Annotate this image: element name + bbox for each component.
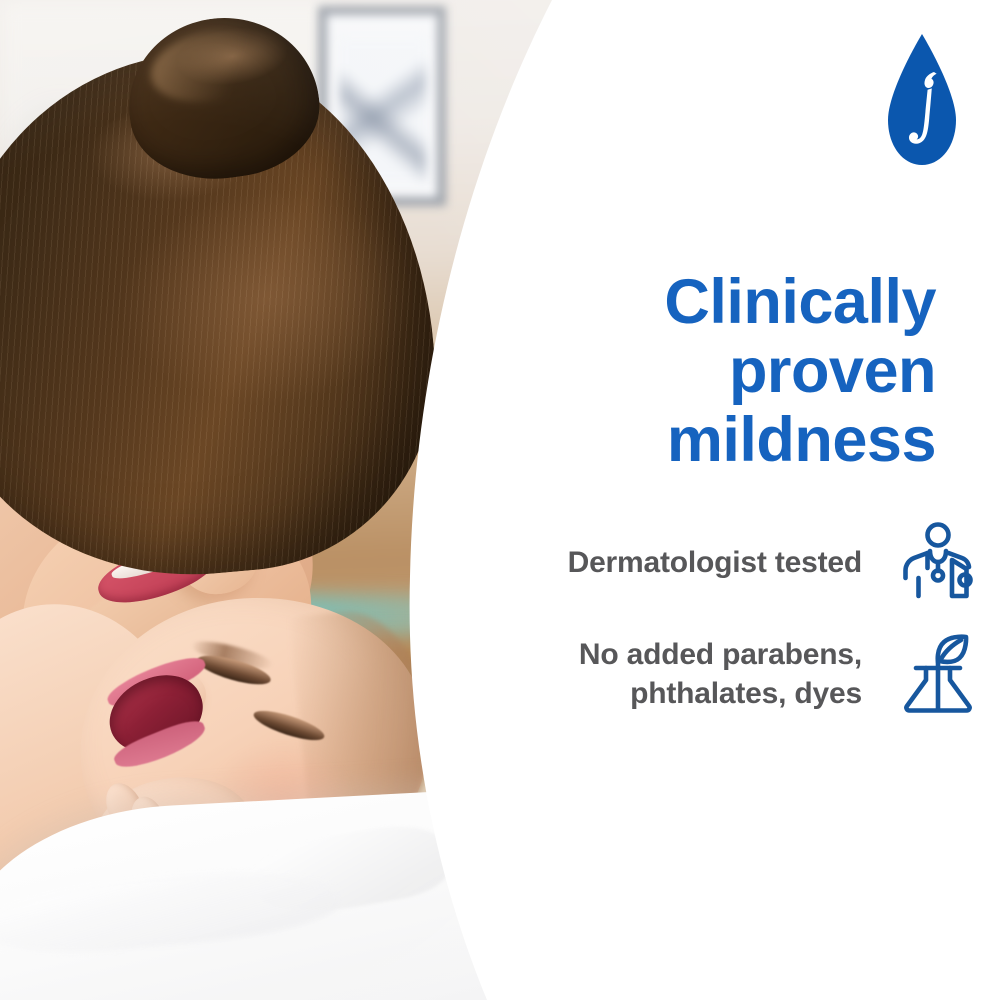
claim-text: No added parabens, phthalates, dyes <box>579 635 862 713</box>
claim-2-line-1: No added parabens, <box>579 635 862 674</box>
headline-line-3: mildness <box>520 406 936 475</box>
claim-text: Dermatologist tested <box>568 543 862 582</box>
flask-leaf-icon <box>896 632 980 716</box>
claim-no-added-ingredients: No added parabens, phthalates, dyes <box>420 632 980 716</box>
claims-list: Dermatologist tested <box>420 520 980 716</box>
headline-line-2: proven <box>520 337 936 406</box>
doctor-stethoscope-icon <box>896 520 980 604</box>
claim-dermatologist-tested: Dermatologist tested <box>420 520 980 604</box>
claim-1-line-1: Dermatologist tested <box>568 543 862 582</box>
headline-line-1: Clinically <box>520 268 936 337</box>
page-title: Clinically proven mildness <box>520 268 936 475</box>
claim-2-line-2: phthalates, dyes <box>579 674 862 713</box>
ad-creative: Clinically proven mildness Dermatologist… <box>0 0 1000 1000</box>
droplet-j-logo <box>882 32 962 168</box>
right-content-panel: Clinically proven mildness Dermatologist… <box>420 0 1000 1000</box>
